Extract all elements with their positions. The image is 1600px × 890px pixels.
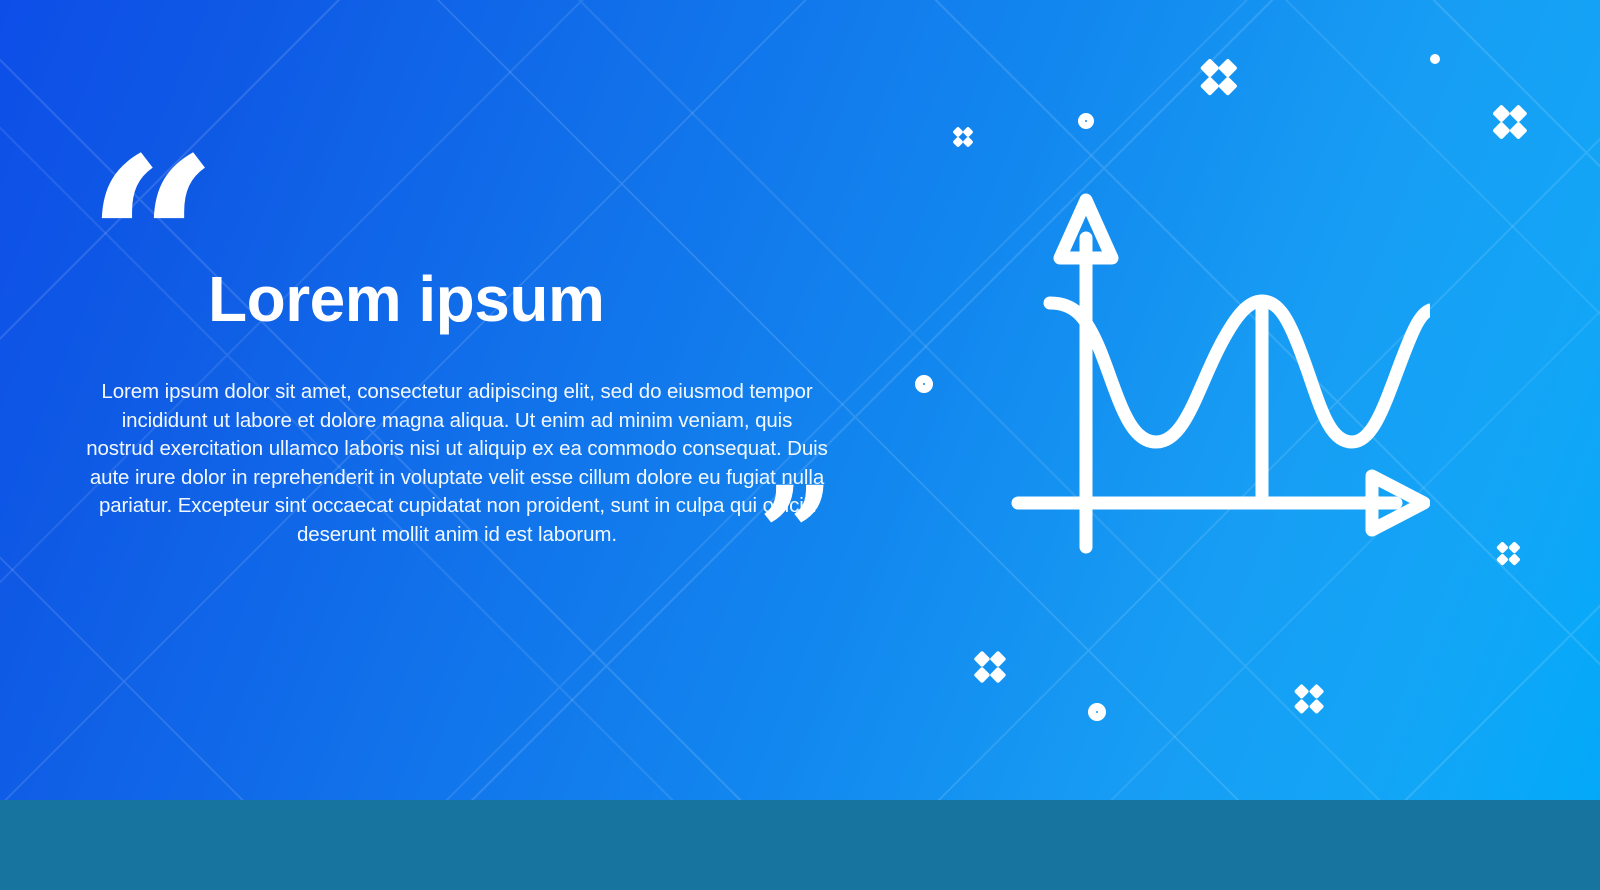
ring-decoration — [915, 375, 933, 393]
line-graph-icon — [1000, 190, 1430, 560]
x-mark-decoration — [1202, 60, 1236, 94]
ring-decoration — [1430, 54, 1440, 64]
ring-decoration — [1078, 113, 1094, 129]
quote-block: “ Lorem ipsum Lorem ipsum dolor sit amet… — [0, 0, 860, 800]
quote-open-icon: “ — [86, 128, 212, 358]
x-mark-decoration — [1494, 106, 1526, 138]
ring-decoration — [1088, 703, 1106, 721]
page-title: Lorem ipsum — [208, 262, 604, 336]
x-mark-decoration — [975, 652, 1005, 682]
x-mark-decoration — [953, 127, 973, 147]
quote-close-icon: ” — [758, 470, 831, 602]
footer-bar: dreamstime.com ID 196699941 © Kostiantyn… — [0, 800, 1600, 890]
screenshot-stage: “ Lorem ipsum Lorem ipsum dolor sit amet… — [0, 0, 1600, 890]
x-mark-decoration — [1295, 685, 1323, 713]
x-mark-decoration — [1497, 542, 1519, 564]
body-paragraph: Lorem ipsum dolor sit amet, consectetur … — [86, 378, 828, 549]
banner-background: “ Lorem ipsum Lorem ipsum dolor sit amet… — [0, 0, 1600, 800]
